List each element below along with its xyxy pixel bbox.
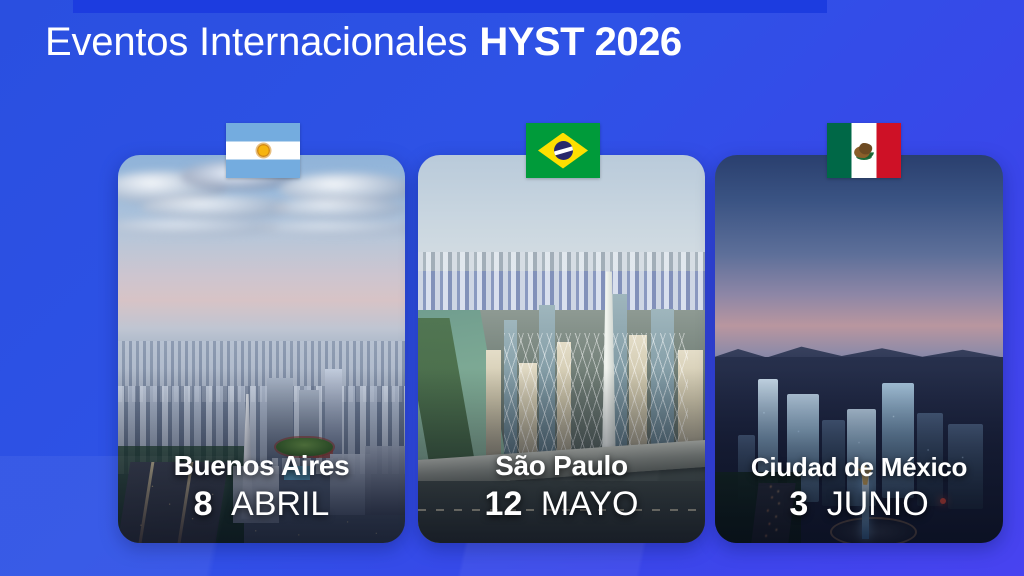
slide-canvas: Eventos Internacionales HYST 2026 — [0, 0, 1024, 576]
cloud-shape — [118, 218, 279, 236]
card-date: 3 JUNIO — [715, 486, 1003, 523]
argentina-flag-bands — [226, 123, 300, 178]
card-date-day: 8 — [194, 485, 213, 523]
card-city-name: Buenos Aires — [118, 451, 405, 482]
card-date-month: ABRIL — [231, 485, 329, 523]
page-title-bold: HYST 2026 — [479, 20, 681, 65]
flag-mexico-icon — [827, 123, 901, 178]
card-date-day: 3 — [789, 485, 808, 523]
event-card-buenos-aires[interactable]: Buenos Aires 8 ABRIL — [118, 155, 405, 543]
card-date-day: 12 — [485, 485, 523, 523]
cloud-shape — [256, 220, 405, 236]
flag-brazil-icon — [526, 123, 600, 178]
mexico-coat-of-arms-icon — [854, 143, 874, 159]
sky-layer — [118, 155, 405, 357]
sky-layer — [715, 155, 1003, 380]
mexico-flag-bands — [827, 123, 901, 178]
card-city-name: São Paulo — [418, 451, 705, 482]
event-cards-row: Buenos Aires 8 ABRIL — [118, 155, 1003, 555]
brazil-flag-field — [526, 123, 600, 178]
card-caption: Ciudad de México 3 JUNIO — [715, 453, 1003, 523]
event-card-ciudad-de-mexico[interactable]: Ciudad de México 3 JUNIO — [715, 155, 1003, 543]
card-date: 8 ABRIL — [118, 486, 405, 523]
card-caption: São Paulo 12 MAYO — [418, 451, 705, 523]
cloud-shape — [141, 195, 290, 219]
card-date-month: MAYO — [541, 485, 639, 523]
card-date-month: JUNIO — [827, 485, 929, 523]
card-caption: Buenos Aires 8 ABRIL — [118, 451, 405, 523]
brazil-flag-globe-icon — [554, 141, 573, 160]
card-date: 12 MAYO — [418, 486, 705, 523]
page-title: Eventos Internacionales HYST 2026 — [45, 16, 682, 68]
card-city-name: Ciudad de México — [715, 453, 1003, 482]
sol-de-mayo-icon — [257, 144, 270, 157]
event-card-sao-paulo[interactable]: São Paulo 12 MAYO — [418, 155, 705, 543]
page-title-light: Eventos Internacionales — [45, 20, 467, 65]
cloud-shape — [273, 197, 405, 219]
top-accent-bar — [73, 0, 827, 13]
flag-argentina-icon — [226, 123, 300, 178]
